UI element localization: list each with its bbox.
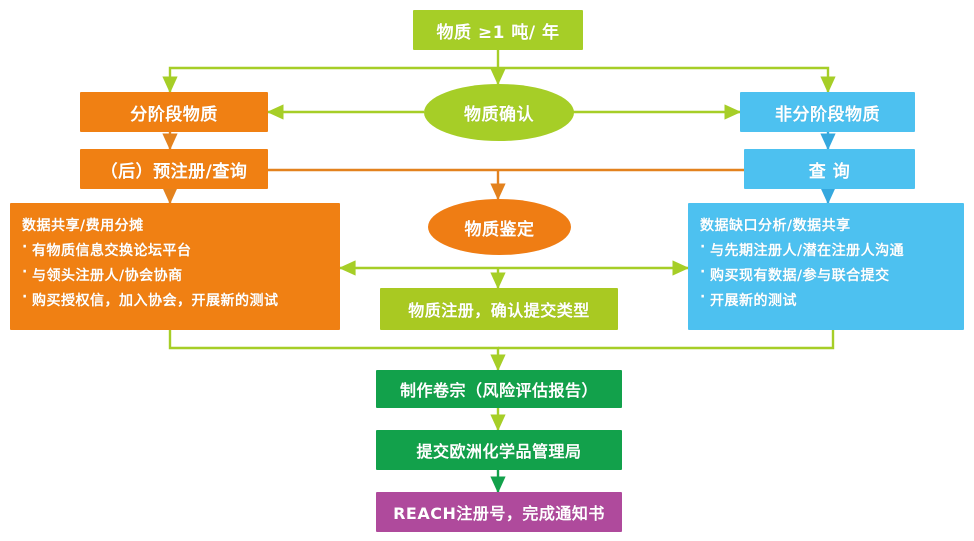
node-substance-identification[interactable]: 物质鉴定	[428, 199, 571, 255]
node-substance-confirm-label: 物质确认	[464, 100, 534, 125]
node-data-gap-right-title: 数据缺口分析/数据共享	[700, 215, 956, 235]
node-late-preregistration-label: （后）预注册/查询	[101, 157, 248, 182]
flowchart-canvas: 物质 ≥1 吨/ 年 物质确认 分阶段物质 非分阶段物质 （后）预注册/查询 查…	[0, 0, 974, 541]
node-late-preregistration[interactable]: （后）预注册/查询	[80, 149, 268, 189]
edge-data-gap-to-dossier	[498, 330, 833, 348]
list-item: 购买授权信，加入协会，开展新的测试	[22, 290, 330, 310]
node-dossier[interactable]: 制作卷宗（风险评估报告）	[376, 370, 622, 408]
list-item: 购买现有数据/参与联合提交	[700, 265, 956, 285]
node-phase-in-label: 分阶段物质	[130, 100, 218, 125]
node-reach-number-label: REACH注册号，完成通知书	[393, 500, 605, 524]
node-substance-confirm[interactable]: 物质确认	[424, 84, 574, 141]
node-phase-in[interactable]: 分阶段物质	[80, 92, 268, 132]
node-non-phase-in-label: 非分阶段物质	[775, 100, 880, 125]
node-substance-identification-label: 物质鉴定	[465, 215, 535, 240]
list-item: 有物质信息交换论坛平台	[22, 240, 330, 260]
node-data-sharing-left-title: 数据共享/费用分摊	[22, 215, 330, 235]
node-submit-echa[interactable]: 提交欧洲化学品管理局	[376, 430, 622, 470]
list-item: 与先期注册人/潜在注册人沟通	[700, 240, 956, 260]
node-submit-echa-label: 提交欧洲化学品管理局	[416, 438, 581, 462]
node-inquiry[interactable]: 查 询	[744, 149, 915, 189]
node-data-gap-right-bullets: 与先期注册人/潜在注册人沟通 购买现有数据/参与联合提交 开展新的测试	[700, 240, 956, 310]
edge-tonnage-to-phase-in	[170, 68, 498, 92]
node-inquiry-label: 查 询	[809, 157, 850, 182]
node-substance-tonnage[interactable]: 物质 ≥1 吨/ 年	[413, 10, 583, 50]
list-item: 与领头注册人/协会协商	[22, 265, 330, 285]
node-reach-number[interactable]: REACH注册号，完成通知书	[376, 492, 622, 532]
node-non-phase-in[interactable]: 非分阶段物质	[740, 92, 915, 132]
node-data-sharing-left[interactable]: 数据共享/费用分摊 有物质信息交换论坛平台 与领头注册人/协会协商 购买授权信，…	[10, 203, 340, 330]
list-item: 开展新的测试	[700, 290, 956, 310]
node-data-sharing-left-bullets: 有物质信息交换论坛平台 与领头注册人/协会协商 购买授权信，加入协会，开展新的测…	[22, 240, 330, 310]
node-substance-registration[interactable]: 物质注册，确认提交类型	[380, 288, 618, 330]
edge-boxes-to-dossier	[170, 330, 498, 370]
node-data-gap-right[interactable]: 数据缺口分析/数据共享 与先期注册人/潜在注册人沟通 购买现有数据/参与联合提交…	[688, 203, 964, 330]
node-substance-registration-label: 物质注册，确认提交类型	[408, 297, 590, 321]
node-dossier-label: 制作卷宗（风险评估报告）	[400, 377, 598, 401]
edge-tonnage-to-non-phase-in	[498, 68, 828, 92]
node-substance-tonnage-label: 物质 ≥1 吨/ 年	[436, 18, 559, 43]
